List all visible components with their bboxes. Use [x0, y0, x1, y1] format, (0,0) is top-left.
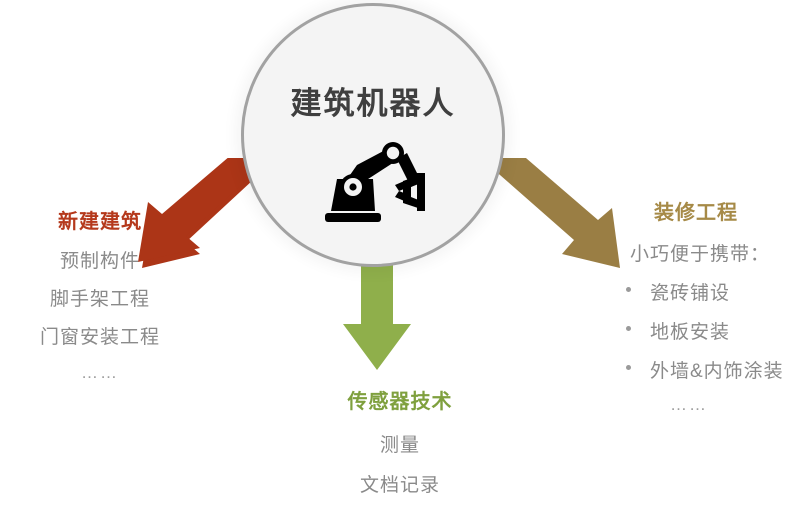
branch-decoration-works: 装修工程 小巧便于携带： 瓷砖铺设 地板安装 外墙&内饰涂装 …… — [600, 196, 800, 415]
bullet-icon — [626, 365, 631, 370]
branch-item: 文档记录 — [275, 470, 525, 497]
branch-item: 门窗安装工程 — [0, 322, 200, 349]
robot-arm-icon — [317, 141, 429, 223]
branch-item: 脚手架工程 — [0, 284, 200, 311]
branch-bullet-list: 瓷砖铺设 地板安装 外墙&内饰涂装 — [600, 278, 800, 383]
list-item: 外墙&内饰涂装 — [622, 356, 800, 383]
list-item-label: 地板安装 — [650, 322, 730, 343]
page-title: 建筑机器人 — [244, 78, 502, 123]
branch-item: 测量 — [275, 430, 525, 457]
branch-title-new-construction: 新建建筑 — [0, 205, 200, 234]
diagram-canvas: 建筑机器人 新建建筑 预制构件 脚手架工程 门 — [0, 0, 800, 505]
list-item: 地板安装 — [622, 317, 800, 344]
bullet-icon — [626, 326, 631, 331]
branch-new-construction: 新建建筑 预制构件 脚手架工程 门窗安装工程 …… — [0, 205, 200, 383]
ellipsis: …… — [670, 395, 800, 415]
list-item-label: 瓷砖铺设 — [650, 283, 730, 304]
bullet-icon — [626, 287, 631, 292]
branch-lead-text: 小巧便于携带： — [630, 239, 800, 266]
central-node: 建筑机器人 — [241, 3, 505, 267]
list-item-label: 外墙&内饰涂装 — [650, 361, 784, 382]
branch-title-decoration-works: 装修工程 — [654, 196, 800, 225]
ellipsis: …… — [0, 363, 200, 383]
list-item: 瓷砖铺设 — [622, 278, 800, 305]
arrow-down-icon — [337, 258, 417, 376]
branch-sensor-technology: 传感器技术 测量 文档记录 — [275, 385, 525, 505]
branch-item: 预制构件 — [0, 246, 200, 273]
branch-title-sensor-technology: 传感器技术 — [275, 385, 525, 414]
